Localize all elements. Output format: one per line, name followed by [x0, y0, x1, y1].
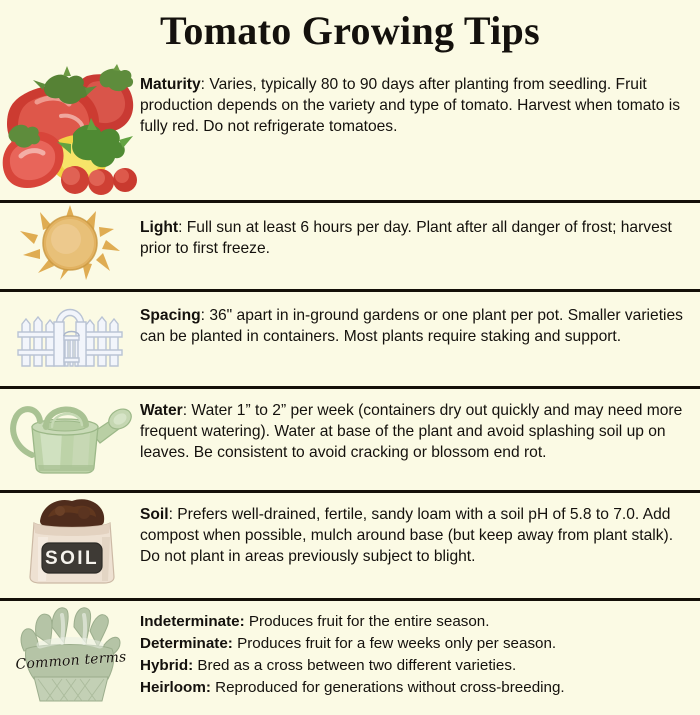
icon-cell-maturity: [0, 62, 140, 194]
tip-body-maturity: Varies, typically 80 to 90 days after pl…: [140, 76, 680, 135]
term-definition: Produces fruit for a few weeks only per …: [233, 635, 556, 652]
icon-cell-water: [0, 389, 140, 475]
icon-cell-soil: SOIL: [0, 493, 140, 585]
title-bar: Tomato Growing Tips: [0, 0, 700, 62]
text-cell-common-terms: Indeterminate: Produces fruit for the en…: [140, 601, 700, 699]
term-name: Indeterminate:: [140, 613, 245, 630]
tip-text-spacing: Spacing: 36" apart in in-ground gardens …: [140, 305, 688, 347]
tip-text-light: Light: Full sun at least 6 hours per day…: [140, 217, 688, 259]
tip-text-maturity: Maturity: Varies, typically 80 to 90 day…: [140, 74, 688, 138]
term-name: Heirloom:: [140, 679, 211, 696]
tip-row-spacing: Spacing: 36" apart in in-ground gardens …: [0, 292, 700, 386]
text-cell-light: Light: Full sun at least 6 hours per day…: [140, 203, 700, 259]
watering-can-illustration: [6, 389, 134, 475]
tip-row-light: Light: Full sun at least 6 hours per day…: [0, 203, 700, 289]
term-item: Determinate: Produces fruit for a few we…: [140, 633, 688, 655]
text-cell-water: Water: Water 1” to 2” per week (containe…: [140, 389, 700, 464]
tip-row-common-terms: Common terms Indeterminate: Produces fru…: [0, 601, 700, 715]
sun-illustration: [18, 203, 122, 281]
tip-label-light: Light: [140, 219, 178, 236]
icon-cell-spacing: [0, 292, 140, 372]
soil-bag-label: SOIL: [45, 548, 99, 569]
tomatoes-illustration: [1, 62, 139, 194]
term-item: Hybrid: Bred as a cross between two diff…: [140, 655, 688, 677]
page-title: Tomato Growing Tips: [160, 11, 540, 51]
term-name: Determinate:: [140, 635, 233, 652]
tip-label-maturity: Maturity: [140, 76, 201, 93]
term-item: Indeterminate: Produces fruit for the en…: [140, 611, 688, 633]
tip-text-water: Water: Water 1” to 2” per week (containe…: [140, 400, 688, 464]
tip-body-spacing: 36" apart in in-ground gardens or one pl…: [140, 307, 683, 345]
text-cell-soil: Soil: Prefers well-drained, fertile, san…: [140, 493, 700, 568]
tip-row-water: Water: Water 1” to 2” per week (containe…: [0, 389, 700, 490]
tip-row-soil: SOIL Soil: Prefers well-drained, fertile…: [0, 493, 700, 598]
tip-body-light: Full sun at least 6 hours per day. Plant…: [140, 219, 672, 257]
term-definition: Bred as a cross between two different va…: [193, 657, 516, 674]
tip-text-soil: Soil: Prefers well-drained, fertile, san…: [140, 504, 688, 568]
gloves-wrap: Common terms: [8, 601, 133, 705]
tip-body-water: Water 1” to 2” per week (containers dry …: [140, 402, 682, 461]
text-cell-maturity: Maturity: Varies, typically 80 to 90 day…: [140, 62, 700, 138]
tomato-growing-tips-poster: Tomato Growing Tips: [0, 0, 700, 700]
tip-body-soil: Prefers well-drained, fertile, sandy loa…: [140, 506, 673, 565]
text-cell-spacing: Spacing: 36" apart in in-ground gardens …: [140, 292, 700, 347]
tip-label-soil: Soil: [140, 506, 169, 523]
tip-row-maturity: Maturity: Varies, typically 80 to 90 day…: [0, 62, 700, 200]
tip-label-water: Water: [140, 402, 183, 419]
tip-label-spacing: Spacing: [140, 307, 201, 324]
term-definition: Reproduced for generations without cross…: [211, 679, 565, 696]
icon-cell-common-terms: Common terms: [0, 601, 140, 705]
term-item: Heirloom: Reproduced for generations wit…: [140, 677, 688, 699]
picket-fence-gate-illustration: [12, 292, 128, 372]
term-definition: Produces fruit for the entire season.: [245, 613, 490, 630]
icon-cell-light: [0, 203, 140, 281]
soil-bag-illustration: SOIL: [14, 493, 126, 585]
term-name: Hybrid:: [140, 657, 193, 674]
